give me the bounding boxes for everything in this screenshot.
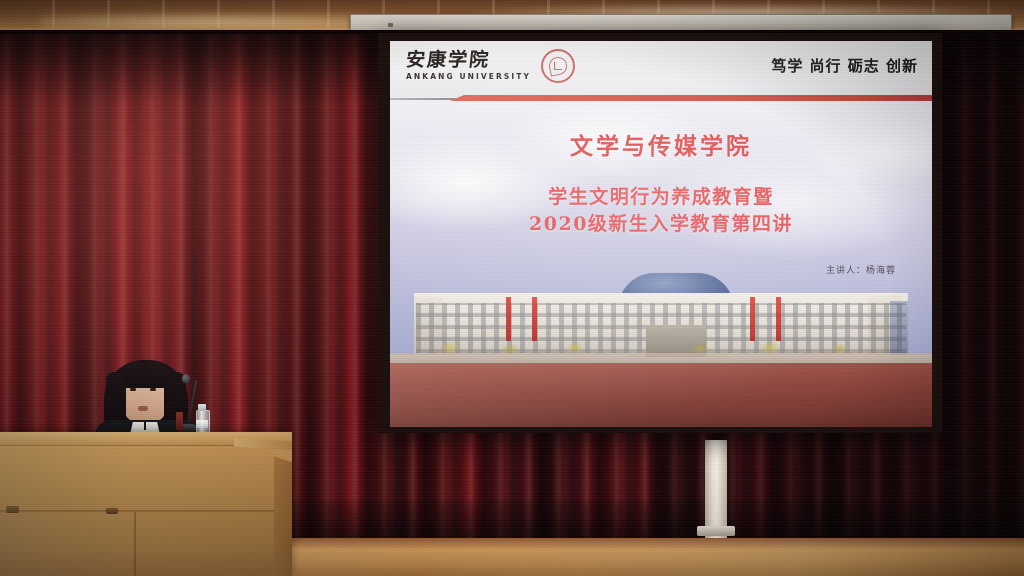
presenter-eye-left — [130, 388, 136, 391]
logo-english-name: ANKANG UNIVERSITY — [406, 72, 531, 81]
logo-chinese-name: 安康学院 — [405, 51, 532, 71]
university-motto: 笃学 尚行 砺志 创新 — [771, 55, 918, 76]
header-red-divider — [450, 95, 932, 101]
slide-subtitle-line-1: 学生文明行为养成教育暨 — [390, 184, 932, 211]
projection-screen: 安康学院 ANKANG UNIVERSITY 笃学 尚行 砺志 创新 文学与传媒… — [390, 41, 932, 427]
slide-speaker-credit: 主讲人：杨海蓉 — [826, 263, 896, 276]
slide-subtitle: 学生文明行为养成教育暨 2020级新生入学教育第四讲 — [390, 184, 932, 238]
lecture-hall-scene: 安康学院 ANKANG UNIVERSITY 笃学 尚行 砺志 创新 文学与传媒… — [0, 0, 1024, 576]
slide-title: 文学与传媒学院 — [390, 127, 932, 161]
roller-bracket-icon — [388, 23, 393, 27]
slide-subtitle-line-2: 2020级新生入学教育第四讲 — [390, 211, 932, 238]
header-thin-rule — [390, 98, 462, 100]
presenter-eye-right — [150, 388, 156, 391]
column-base — [697, 526, 735, 536]
bottle-cap — [198, 404, 206, 411]
ankang-university-seal-icon — [541, 49, 575, 83]
campus-building-photo — [390, 267, 932, 363]
lectern-shading — [0, 432, 292, 576]
presenter-mouth — [138, 406, 148, 411]
microphone-icon — [182, 374, 190, 383]
university-logo: 安康学院 ANKANG UNIVERSITY — [406, 49, 575, 83]
bottle-label — [196, 420, 208, 428]
desk-object — [176, 412, 183, 430]
white-support-column — [705, 440, 727, 540]
slide-header: 安康学院 ANKANG UNIVERSITY 笃学 尚行 砺志 创新 — [390, 41, 932, 97]
slide-foreground-sheen — [390, 363, 932, 427]
campus-ground — [390, 353, 932, 363]
